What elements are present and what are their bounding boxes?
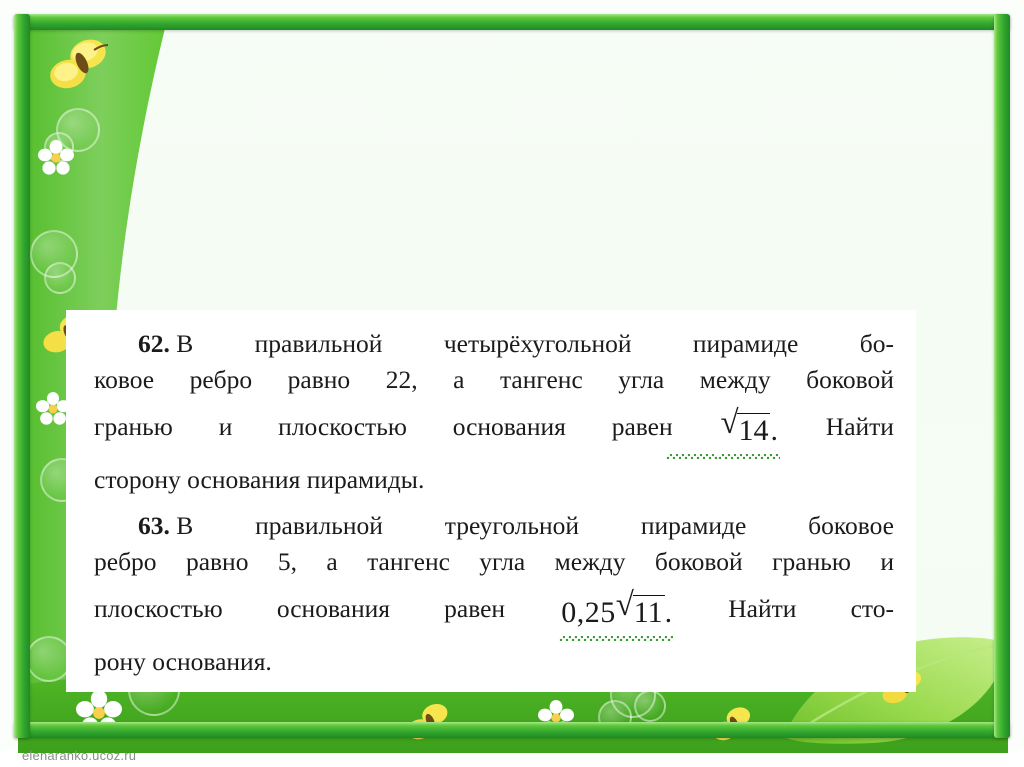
word: угла [479,544,525,580]
problem-63-line-3: плоскостью основания равен 0,25√11. Найт… [94,591,894,634]
problem-63-line-2: ребро равно 5, а тангенс угла между боко… [94,544,894,580]
word: между [555,544,626,580]
word: и [219,409,233,452]
word: равно [288,362,351,398]
math-sqrt-14: √14. [718,409,780,452]
word: пирамиды. [307,462,425,498]
formula-trailing: . [665,596,673,629]
problem-63-line-1: 63. В правильной треугольной пирамиде бо… [94,508,894,544]
problem-62: 62. В правильной четырёхугольной пирамид… [94,326,894,498]
problem-text-body: 62. В правильной четырёхугольной пирамид… [94,326,894,682]
word: сторону [94,462,181,498]
word: основания [453,409,566,452]
problem-62-line-1: 62. В правильной четырёхугольной пирамид… [94,326,894,362]
word: ребро [190,362,253,398]
formula-trailing: . [770,414,778,447]
word: боковой [655,544,743,580]
frame-rail-top [14,14,1010,30]
slide-root: 62. В правильной четырёхугольной пирамид… [0,0,1024,767]
word: и [880,544,894,580]
word: бо- [860,326,894,362]
word: боковое [808,508,894,544]
word: плоскостью [278,409,407,452]
problem-62-line-4: сторону основания пирамиды. [94,462,894,498]
word: равен [612,409,673,452]
word: угла [618,362,664,398]
word: равен [444,591,505,634]
butterfly-icon [42,36,116,98]
word: ребро [94,544,157,580]
word: основания [187,462,300,498]
bubble-icon [44,262,76,294]
problem-63: 63. В правильной треугольной пирамиде бо… [94,508,894,680]
word: между [700,362,771,398]
frame-rail-bottom [14,722,1010,738]
word: пирамиде [693,326,798,362]
word: Найти [728,591,796,634]
formula-62-squiggle [718,454,780,459]
word: пирамиде [641,508,746,544]
problem-62-number: 62. [138,329,170,358]
word: основания. [152,644,272,680]
word: боковой [806,362,894,398]
formula-62-underline-lead [666,454,718,459]
word: основания [277,591,390,634]
formula-63: 0,25√11. [559,591,674,634]
formula-62: √14. [718,409,780,452]
word: В [176,511,193,540]
problem-63-line-4: рону основания. [94,644,894,680]
word: тангенс [367,544,450,580]
frame-rail-right [994,14,1010,738]
word: ковое [94,362,154,398]
word: гранью [94,409,173,452]
word: сто- [851,591,894,634]
word: равно [186,544,249,580]
coefficient-value: 0,25 [561,596,616,629]
flower-icon [36,392,70,426]
problem-62-line-3: гранью и плоскостью основания равен √14.… [94,409,894,452]
word: гранью [772,544,851,580]
word: четырёхугольной [444,326,632,362]
word: а [453,362,464,398]
radical-icon: √ [720,407,738,440]
word: плоскостью [94,591,223,634]
radicand-value: 11 [633,595,665,629]
word: правильной [255,326,383,362]
word: рону [94,644,146,680]
word: треугольной [445,508,579,544]
text-card: 62. В правильной четырёхугольной пирамид… [66,310,916,692]
watermark: elenaranko.ucoz.ru [22,748,136,763]
radicand-value: 14 [737,413,770,447]
problem-63-number: 63. [138,511,170,540]
word: правильной [255,508,383,544]
problem-62-line-2: ковое ребро равно 22, а тангенс угла меж… [94,362,894,398]
word: Найти [826,409,894,452]
flower-icon [38,140,74,176]
word: 22, [386,362,418,398]
word: а [326,544,337,580]
bubble-icon [634,690,666,722]
word: тангенс [500,362,583,398]
math-025-sqrt-11: 0,25√11. [559,591,674,634]
frame-rail-left [14,14,30,738]
word: В [176,329,193,358]
radical-icon: √ [616,589,634,622]
formula-63-squiggle [559,636,674,641]
word: 5, [278,544,297,580]
